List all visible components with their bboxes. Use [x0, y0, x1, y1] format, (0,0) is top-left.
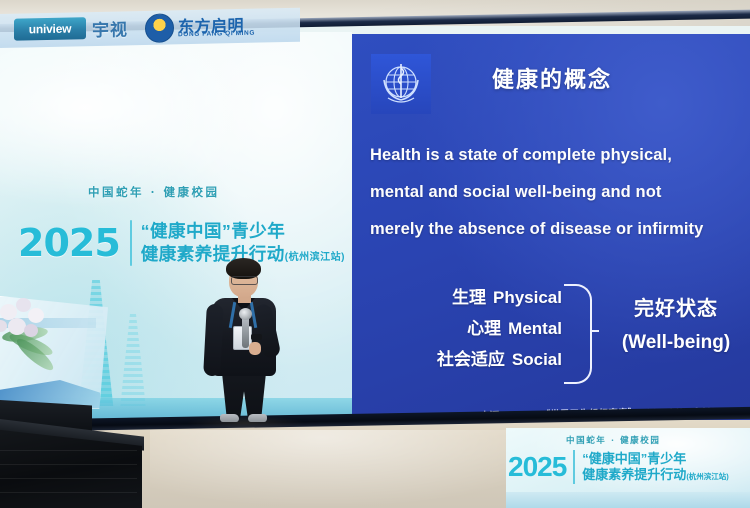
- flower-arrangement: [0, 292, 68, 364]
- microphone-icon: [239, 308, 252, 320]
- health-dimension-item: 心理Mental: [392, 313, 562, 344]
- poster-headline: 2025 “健康中国”青少年 健康素养提升行动(杭州滨江站): [18, 210, 348, 276]
- banner-divider: [573, 450, 575, 484]
- health-dimension-list: 生理Physical 心理Mental 社会适应Social: [392, 282, 562, 375]
- uniview-logo: uniview: [14, 17, 86, 41]
- banner-title-line2: 健康素养提升行动(杭州滨江站): [582, 467, 729, 483]
- projection-screen: 中国蛇年 · 健康校园 2025 “健康中国”青少年 健康素养提升行动(杭州滨江…: [0, 24, 750, 420]
- speaker-hand: [249, 342, 261, 355]
- hangzhou-tower-graphic-secondary: [118, 314, 148, 406]
- health-result-block: 完好状态 (Well-being): [602, 292, 750, 360]
- slide-english-line-3: merely the absence of disease or infirmi…: [370, 211, 750, 248]
- partner-logo-english: DONG FANG QI MING: [178, 30, 255, 39]
- dimension-en-2: Mental: [508, 319, 562, 338]
- slide-english-definition: Health is a state of complete physical, …: [370, 137, 750, 248]
- speaker-shoe-right: [248, 414, 267, 422]
- banner-title-lines: “健康中国”青少年 健康素养提升行动(杭州滨江站): [582, 451, 729, 483]
- uniview-logo-chinese: 宇视: [92, 15, 128, 41]
- poster-year: 2025: [18, 224, 120, 262]
- screenshot-root: 中国蛇年 · 健康校园 2025 “健康中国”青少年 健康素养提升行动(杭州滨江…: [0, 0, 750, 508]
- poster-title-line1: “健康中国”青少年: [141, 222, 345, 241]
- dimension-en-1: Physical: [493, 288, 562, 307]
- banner-site-label: (杭州滨江站): [686, 472, 729, 481]
- speaker-legs: [220, 372, 268, 418]
- poster-site-label: (杭州滨江站): [285, 252, 345, 263]
- health-dimension-item: 社会适应Social: [392, 344, 562, 375]
- corner-event-banner: 中国蛇年 · 健康校园 2025 “健康中国”青少年 健康素养提升行动(杭州滨江…: [506, 428, 750, 508]
- banner-subtitle: 中国蛇年 · 健康校园: [566, 434, 660, 446]
- result-english: (Well-being): [602, 326, 750, 360]
- slide-english-line-2: mental and social well-being and not: [370, 174, 750, 211]
- banner-headline: 2025 “健康中国”青少年 健康素养提升行动(杭州滨江站): [508, 450, 729, 484]
- slide-title: 健康的概念: [492, 62, 612, 94]
- curly-brace-graphic: [564, 284, 592, 384]
- flower-bloom: [0, 320, 7, 332]
- banner-title-line1: “健康中国”青少年: [582, 451, 729, 467]
- poster-subtitle: 中国蛇年 · 健康校园: [88, 184, 308, 200]
- dimension-cn-1: 生理: [452, 288, 486, 307]
- slide-english-line-1: Health is a state of complete physical,: [370, 137, 750, 174]
- result-chinese: 完好状态: [602, 292, 750, 326]
- poster-divider: [130, 220, 132, 266]
- speaker-shoe-left: [220, 414, 239, 422]
- banner-title-line2-text: 健康素养提升行动: [582, 467, 686, 482]
- banner-footer-band: [506, 492, 750, 508]
- dimension-cn-2: 心理: [467, 319, 501, 338]
- sunrise-icon: [145, 13, 174, 43]
- sponsor-logo-bar: uniview 宇视 东方启明 DONG FANG QI MING: [0, 8, 300, 48]
- banner-year: 2025: [508, 453, 566, 481]
- dimension-cn-3: 社会适应: [437, 350, 505, 369]
- health-dimension-item: 生理Physical: [392, 282, 562, 313]
- dimension-en-3: Social: [512, 350, 562, 369]
- glasses-icon: [231, 276, 258, 285]
- flower-bloom: [24, 324, 38, 337]
- presentation-slide: 健康的概念 Health is a state of complete phys…: [352, 34, 750, 420]
- flower-bloom: [8, 318, 26, 335]
- who-emblem-icon: [371, 54, 431, 114]
- speaker: [196, 252, 292, 424]
- wristwatch: [251, 334, 262, 340]
- flower-bloom: [28, 308, 44, 323]
